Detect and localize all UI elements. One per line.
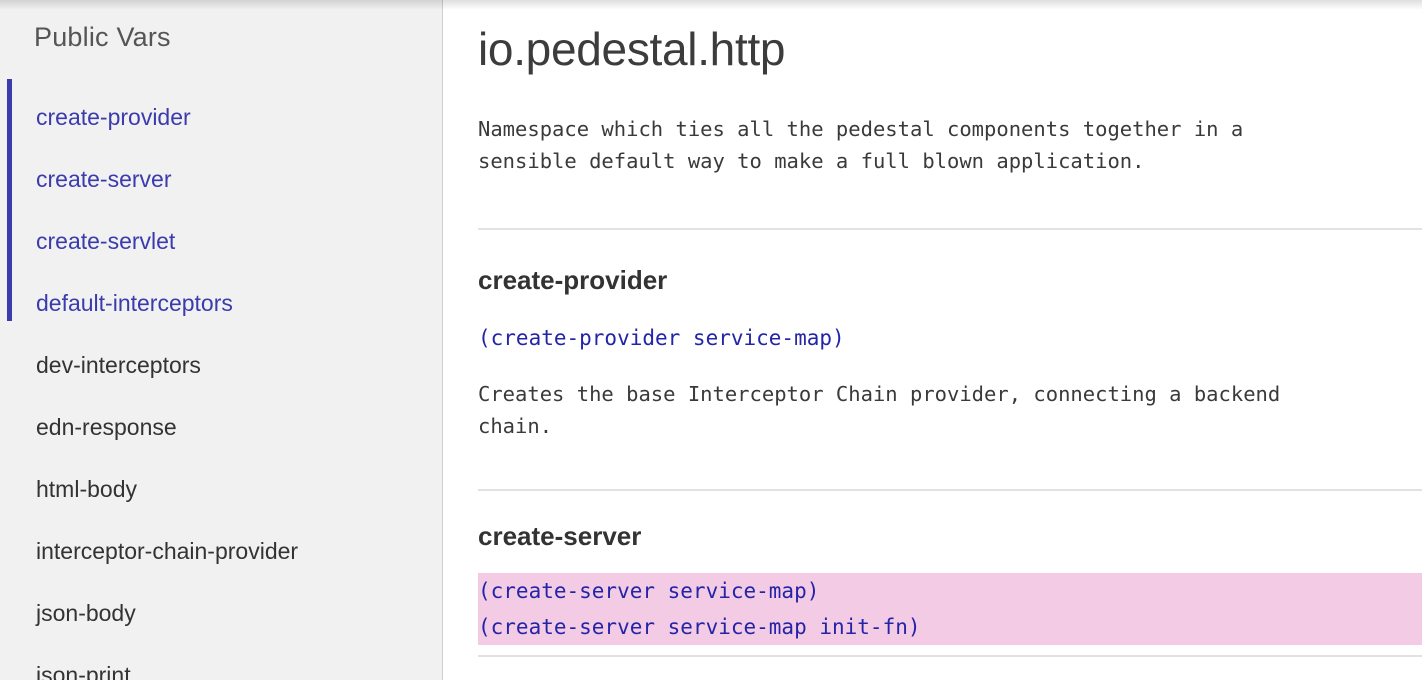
sidebar-item-interceptor-chain-provider[interactable]: interceptor-chain-provider xyxy=(0,520,443,582)
sidebar-item-label: interceptor-chain-provider xyxy=(36,538,298,564)
sidebar-item-label: create-server xyxy=(36,166,171,192)
sidebar-item-label: default-interceptors xyxy=(36,290,233,316)
sidebar-item-create-servlet[interactable]: create-servlet xyxy=(0,210,443,272)
section-divider xyxy=(478,228,1422,230)
sidebar-item-label: edn-response xyxy=(36,414,177,440)
sidebar-item-label: dev-interceptors xyxy=(36,352,201,378)
sidebar-item-create-provider[interactable]: create-provider xyxy=(0,86,443,148)
sidebar-item-json-body[interactable]: json-body xyxy=(0,582,443,644)
var-heading-create-server: create-server xyxy=(478,521,641,552)
sidebar-item-create-server[interactable]: create-server xyxy=(0,148,443,210)
sidebar-item-label: html-body xyxy=(36,476,137,502)
public-vars-sidebar: Public Vars create-provider create-serve… xyxy=(0,0,443,680)
sidebar-item-dev-interceptors[interactable]: dev-interceptors xyxy=(0,334,443,396)
var-signature-line: (create-server service-map init-fn) xyxy=(478,609,1422,645)
var-doc-create-provider: Creates the base Interceptor Chain provi… xyxy=(478,378,1422,442)
var-signature-highlight-create-server: (create-server service-map) (create-serv… xyxy=(478,573,1422,645)
public-vars-list: create-provider create-server create-ser… xyxy=(0,86,443,680)
sidebar-item-html-body[interactable]: html-body xyxy=(0,458,443,520)
sidebar-item-label: create-provider xyxy=(36,104,191,130)
section-divider xyxy=(478,655,1422,657)
var-signature-line: (create-server service-map) xyxy=(478,573,1422,609)
namespace-description: Namespace which ties all the pedestal co… xyxy=(478,113,1422,177)
var-signature-create-provider: (create-provider service-map) xyxy=(478,320,845,356)
sidebar-item-edn-response[interactable]: edn-response xyxy=(0,396,443,458)
sidebar-item-json-print[interactable]: json-print xyxy=(0,644,443,680)
sidebar-item-label: json-body xyxy=(36,600,136,626)
doc-page: Public Vars create-provider create-serve… xyxy=(0,0,1422,680)
sidebar-item-label: json-print xyxy=(36,662,131,680)
sidebar-item-default-interceptors[interactable]: default-interceptors xyxy=(0,272,443,334)
sidebar-item-label: create-servlet xyxy=(36,228,175,254)
section-divider xyxy=(478,489,1422,491)
page-title: io.pedestal.http xyxy=(478,22,785,76)
namespace-content: io.pedestal.http Namespace which ties al… xyxy=(444,0,1422,680)
var-heading-create-provider: create-provider xyxy=(478,265,667,296)
sidebar-title: Public Vars xyxy=(34,22,171,53)
